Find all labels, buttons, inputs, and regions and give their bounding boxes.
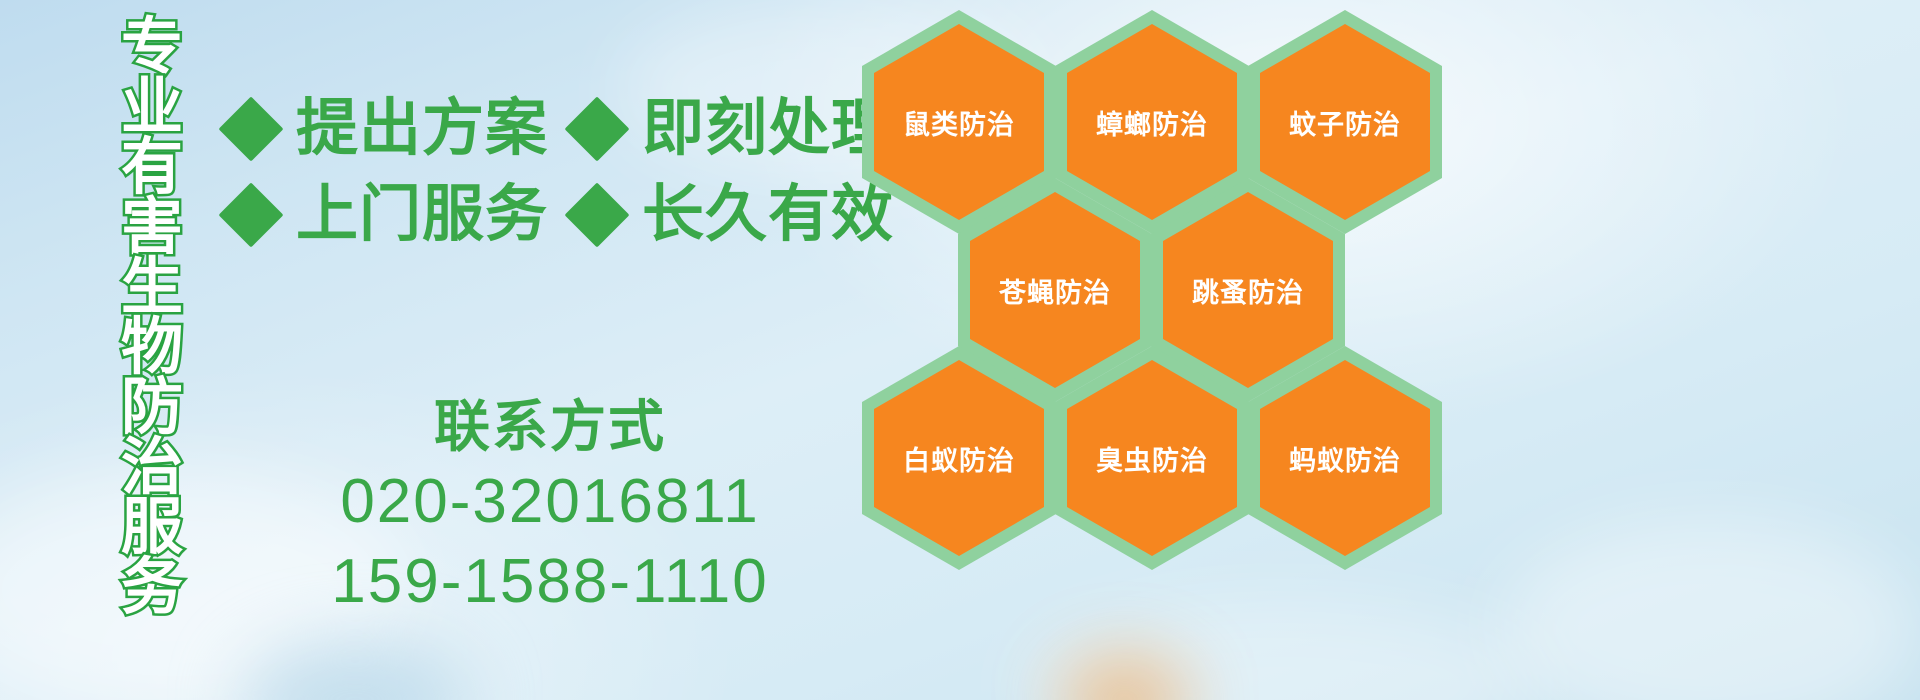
background-blur-blob	[1020, 600, 1540, 700]
hexagon-shape: 白蚁防治	[862, 346, 1056, 570]
service-label: 鼠类防治	[903, 103, 1015, 142]
contact-label: 联系方式	[230, 392, 870, 462]
vertical-headline-char: 物	[121, 318, 183, 378]
service-hex-cell[interactable]: 臭虫防治	[1055, 346, 1249, 570]
background-blur-blob	[240, 640, 470, 700]
hexagon-inner: 臭虫防治	[1067, 360, 1237, 556]
background-blur-blob	[1500, 520, 1920, 700]
service-honeycomb: 鼠类防治 蟑螂防治 蚊子防治 苍蝇防治	[862, 2, 1442, 550]
hexagon-shape: 臭虫防治	[1055, 346, 1249, 570]
contact-block: 联系方式 020-32016811 159-1588-1110	[230, 392, 870, 622]
diamond-bullet-icon	[218, 182, 283, 247]
vertical-headline-char: 防	[121, 378, 183, 438]
diamond-bullet-icon	[218, 96, 283, 161]
vertical-headline-char: 服	[121, 498, 183, 558]
diamond-bullet-icon	[564, 182, 629, 247]
service-hex-cell[interactable]: 白蚁防治	[862, 346, 1056, 570]
feature-row: 提出方案 即刻处理	[228, 86, 868, 172]
service-label: 蟑螂防治	[1096, 103, 1208, 142]
service-hex-cell[interactable]: 蚂蚁防治	[1248, 346, 1442, 570]
feature-label: 提出方案	[296, 98, 548, 160]
service-label: 白蚁防治	[903, 439, 1015, 478]
vertical-headline-char: 生	[121, 258, 183, 318]
hexagon-inner: 蚂蚁防治	[1260, 360, 1430, 556]
promo-banner: 专 业 有 害 生 物 防 治 服 务 提出方案 即刻处理 上门服务 长久有效 …	[0, 0, 1920, 700]
feature-label: 上门服务	[296, 184, 548, 246]
vertical-headline-char: 治	[121, 438, 183, 498]
vertical-headline-char: 专	[121, 18, 183, 78]
contact-phone-mobile[interactable]: 159-1588-1110	[230, 542, 870, 622]
service-label: 跳蚤防治	[1192, 271, 1304, 310]
vertical-headline: 专 业 有 害 生 物 防 治 服 务	[104, 18, 200, 558]
feature-list: 提出方案 即刻处理 上门服务 长久有效	[228, 86, 868, 258]
vertical-headline-char: 务	[121, 558, 183, 618]
diamond-bullet-icon	[564, 96, 629, 161]
vertical-headline-char: 业	[121, 78, 183, 138]
service-label: 臭虫防治	[1096, 439, 1208, 478]
service-label: 蚊子防治	[1289, 103, 1401, 142]
feature-label: 即刻处理	[642, 98, 894, 160]
hexagon-inner: 白蚁防治	[874, 360, 1044, 556]
background-blur-blob	[1060, 655, 1190, 700]
hexagon-shape: 蚂蚁防治	[1248, 346, 1442, 570]
contact-phone-landline[interactable]: 020-32016811	[230, 462, 870, 542]
service-label: 苍蝇防治	[999, 271, 1111, 310]
feature-row: 上门服务 长久有效	[228, 172, 868, 258]
vertical-headline-char: 害	[121, 198, 183, 258]
vertical-headline-char: 有	[121, 138, 183, 198]
feature-label: 长久有效	[642, 184, 894, 246]
service-label: 蚂蚁防治	[1289, 439, 1401, 478]
